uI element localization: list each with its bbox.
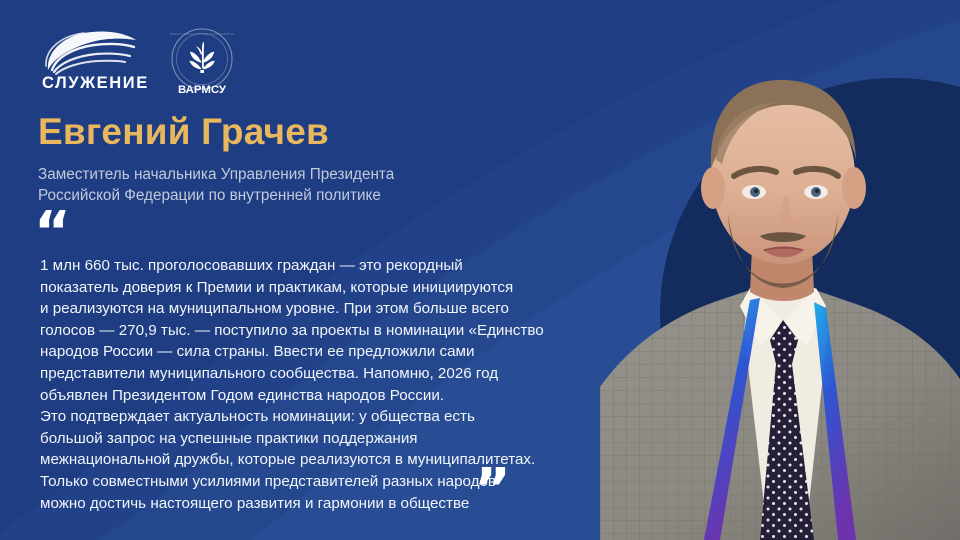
page-title: Евгений Грачев — [38, 113, 329, 152]
quote-line: Это подтверждает актуальность номинации:… — [40, 406, 580, 428]
sluzhenie-wordmark: СЛУЖЕНИЕ — [42, 74, 149, 93]
quote-line: показатель доверия к Премии и практикам,… — [40, 277, 580, 299]
speaker-portrait — [600, 0, 960, 540]
wing-swoosh-icon — [40, 26, 140, 78]
logo-group: СЛУЖЕНИЕ ВСЕРОССИЙСКАЯ АССОЦИАЦИЯ РАЗВИТ… — [40, 26, 238, 98]
varmsu-wordmark: ВАРМСУ — [178, 84, 227, 96]
quote-line: 1 млн 660 тыс. проголосовавших граждан —… — [40, 255, 580, 277]
quote-open-mark: “ — [34, 205, 71, 261]
sluzhenie-logo[interactable]: СЛУЖЕНИЕ — [40, 26, 140, 98]
quote-line: большой запрос на успешные практики подд… — [40, 428, 580, 450]
quote-line: представители муниципального сообщества.… — [40, 363, 580, 385]
plant-emblem-icon: ВСЕРОССИЙСКАЯ АССОЦИАЦИЯ РАЗВИТИЯ ВАРМСУ — [166, 26, 238, 98]
quote-close-mark: ” — [474, 462, 511, 518]
quote-line: народов России — сила страны. Ввести ее … — [40, 341, 580, 363]
speaker-role: Заместитель начальника Управления Презид… — [38, 164, 394, 206]
quote-line: объявлен Президентом Годом единства наро… — [40, 385, 580, 407]
quote-line: и реализуются на муниципальном уровне. П… — [40, 298, 580, 320]
varmsu-logo[interactable]: ВСЕРОССИЙСКАЯ АССОЦИАЦИЯ РАЗВИТИЯ ВАРМСУ — [166, 26, 238, 98]
speaker-role-line-1: Заместитель начальника Управления Презид… — [38, 164, 394, 185]
quote-line: голосов — 270,9 тыс. — поступило за прое… — [40, 320, 580, 342]
portrait-illustration — [600, 0, 960, 540]
svg-text:ВСЕРОССИЙСКАЯ АССОЦИАЦИЯ РАЗВИ: ВСЕРОССИЙСКАЯ АССОЦИАЦИЯ РАЗВИТИЯ — [170, 32, 234, 36]
speaker-role-line-2: Российской Федерации по внутренней полит… — [38, 185, 394, 206]
quote-card: СЛУЖЕНИЕ ВСЕРОССИЙСКАЯ АССОЦИАЦИЯ РАЗВИТ… — [0, 0, 960, 540]
